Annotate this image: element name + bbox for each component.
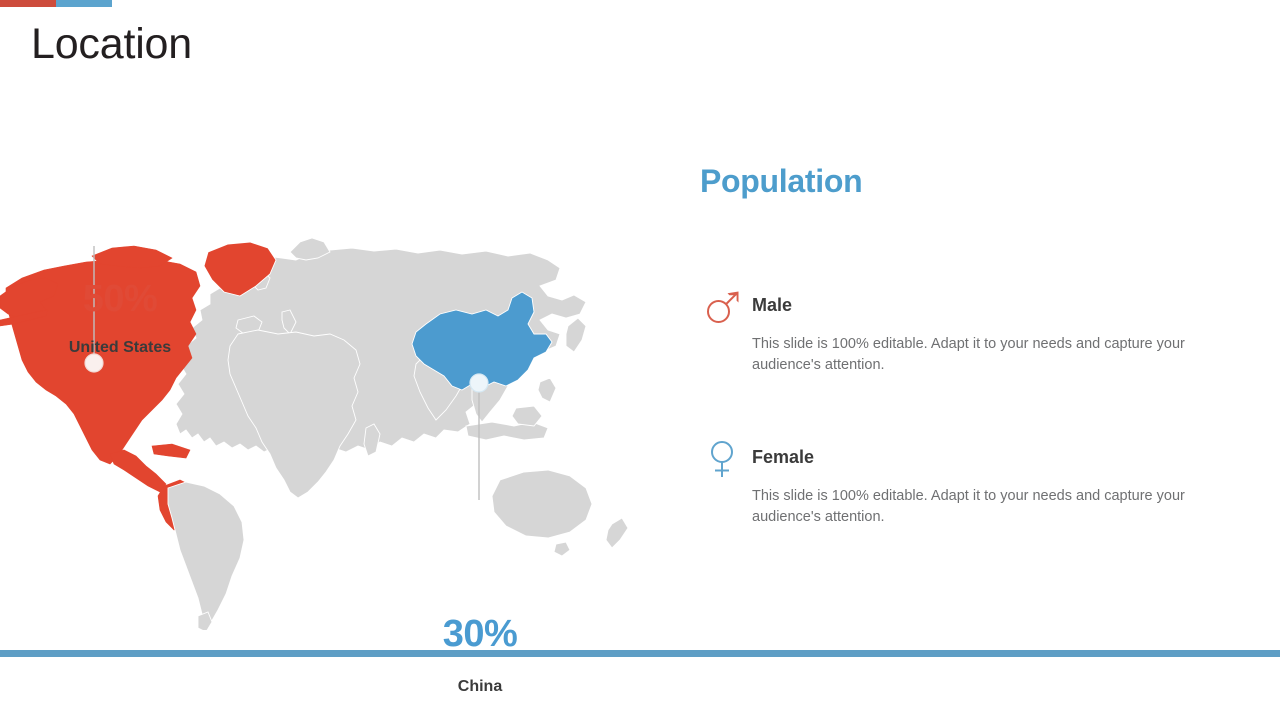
philippines-land — [538, 378, 556, 402]
new-zealand-land — [606, 518, 628, 548]
population-item-male-body: This slide is 100% editable. Adapt it to… — [752, 334, 1236, 375]
slide-canvas: Location — [0, 0, 1280, 720]
accent-bar-red — [0, 0, 56, 7]
callout-percent-us: 50% — [20, 280, 220, 318]
population-item-male-label: Male — [752, 296, 792, 314]
tasmania-land — [554, 542, 570, 556]
population-item-female-head: Female — [700, 442, 1245, 482]
top-accent-bar — [0, 0, 112, 7]
borneo-land — [512, 406, 542, 426]
accent-bar-blue — [56, 0, 112, 7]
female-venus-icon — [702, 438, 744, 480]
population-item-female: Female This slide is 100% editable. Adap… — [700, 442, 1245, 527]
population-item-female-body: This slide is 100% editable. Adapt it to… — [752, 486, 1236, 527]
callout-country-cn: China — [395, 679, 565, 695]
population-item-female-label: Female — [752, 448, 814, 466]
africa-land — [228, 330, 360, 498]
central-america-highlight — [110, 450, 166, 492]
male-mars-icon — [702, 286, 744, 328]
world-map-panel[interactable]: 50% United States 30% China — [0, 120, 660, 630]
callout-country-us: United States — [20, 340, 220, 356]
china-pin-marker — [470, 374, 488, 392]
japan-land — [566, 318, 586, 352]
australia-land — [492, 470, 592, 538]
population-item-male: Male This slide is 100% editable. Adapt … — [700, 290, 1245, 375]
population-panel: Population Male This slide is 100% edita… — [700, 165, 1245, 197]
population-item-male-head: Male — [700, 290, 1245, 330]
callout-united-states: 50% United States — [20, 280, 220, 356]
page-title: Location — [31, 20, 192, 69]
canada-arctic-highlight — [92, 246, 172, 268]
caribbean-highlight — [152, 444, 190, 458]
callout-percent-cn: 30% — [395, 615, 565, 653]
south-america-land — [168, 482, 244, 624]
world-map-svg[interactable] — [0, 120, 660, 630]
us-pin-marker — [85, 354, 103, 372]
bottom-accent-bar — [0, 650, 1280, 657]
population-heading: Population — [700, 165, 1245, 197]
